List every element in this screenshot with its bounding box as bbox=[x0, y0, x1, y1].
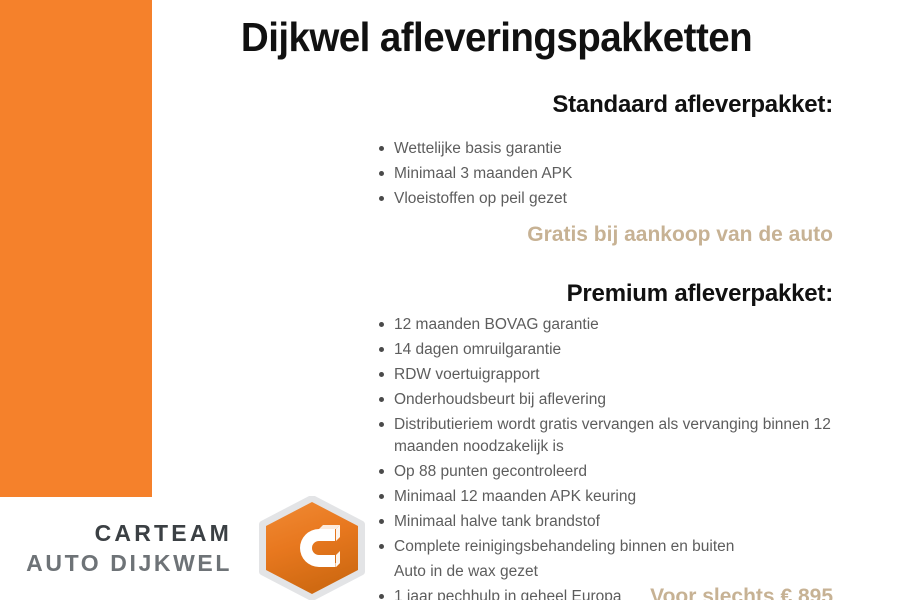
standard-package-list: Wettelijke basis garantie Minimaal 3 maa… bbox=[378, 138, 838, 213]
bullet-icon bbox=[379, 397, 384, 402]
list-item: Wettelijke basis garantie bbox=[378, 138, 838, 160]
list-item: Minimaal 12 maanden APK keuring bbox=[378, 486, 838, 508]
standard-package-price-note: Gratis bij aankoop van de auto bbox=[527, 222, 833, 248]
list-item: Distributieriem wordt gratis vervangen a… bbox=[378, 414, 838, 457]
orange-accent-panel bbox=[0, 0, 152, 497]
list-item-label: 12 maanden BOVAG garantie bbox=[394, 316, 599, 333]
premium-package-price-note: Voor slechts € 895 bbox=[650, 584, 833, 600]
bullet-icon bbox=[379, 347, 384, 352]
list-item-label: Distributieriem wordt gratis vervangen a… bbox=[394, 416, 831, 455]
page-title: Dijkwel afleveringspakketten bbox=[180, 12, 813, 62]
list-item-label: 1 jaar pechhulp in geheel Europa bbox=[394, 588, 622, 600]
bullet-icon bbox=[379, 196, 384, 201]
list-item-label: RDW voertuigrapport bbox=[394, 366, 540, 383]
brand-wordmark: CARTEAM AUTO DIJKWEL bbox=[0, 518, 232, 578]
premium-package-heading: Premium afleverpakket: bbox=[567, 279, 833, 309]
list-item: RDW voertuigrapport bbox=[378, 364, 838, 386]
bullet-icon bbox=[379, 171, 384, 176]
list-item: Minimaal halve tank brandstof bbox=[378, 511, 838, 533]
list-item-label: Minimaal halve tank brandstof bbox=[394, 513, 600, 530]
list-item: Onderhoudsbeurt bij aflevering bbox=[378, 389, 838, 411]
list-item-label: Onderhoudsbeurt bij aflevering bbox=[394, 391, 606, 408]
list-item: Minimaal 3 maanden APK bbox=[378, 163, 838, 185]
standard-package-heading: Standaard afleverpakket: bbox=[552, 90, 833, 120]
bullet-icon bbox=[379, 544, 384, 549]
list-item-label: Op 88 punten gecontroleerd bbox=[394, 463, 587, 480]
list-item-continuation: Auto in de wax gezet bbox=[378, 561, 838, 583]
list-item: 14 dagen omruilgarantie bbox=[378, 339, 838, 361]
bullet-icon bbox=[379, 594, 384, 599]
delivery-packages-poster: Dijkwel afleveringspakketten Standaard a… bbox=[0, 0, 902, 600]
list-item: Complete reinigingsbehandeling binnen en… bbox=[378, 536, 838, 558]
list-item-label: Minimaal 3 maanden APK bbox=[394, 165, 572, 182]
list-item-label: Complete reinigingsbehandeling binnen en… bbox=[394, 538, 734, 555]
list-item-label: Vloeistoffen op peil gezet bbox=[394, 190, 567, 207]
list-item-label: Minimaal 12 maanden APK keuring bbox=[394, 488, 636, 505]
bullet-icon bbox=[379, 146, 384, 151]
brand-name: CARTEAM bbox=[0, 518, 232, 548]
bullet-icon bbox=[379, 372, 384, 377]
list-item: 12 maanden BOVAG garantie bbox=[378, 314, 838, 336]
premium-package-list: 12 maanden BOVAG garantie 14 dagen omrui… bbox=[378, 314, 838, 600]
bullet-icon bbox=[379, 322, 384, 327]
bullet-icon bbox=[379, 519, 384, 524]
list-item: Op 88 punten gecontroleerd bbox=[378, 461, 838, 483]
brand-dealer-name: AUTO DIJKWEL bbox=[0, 548, 232, 578]
bullet-icon bbox=[379, 494, 384, 499]
bullet-icon bbox=[379, 422, 384, 427]
hexagon-c-logo-icon bbox=[254, 496, 370, 600]
list-item-label: Wettelijke basis garantie bbox=[394, 140, 562, 157]
list-item: Vloeistoffen op peil gezet bbox=[378, 188, 838, 210]
list-item-label: 14 dagen omruilgarantie bbox=[394, 341, 561, 358]
bullet-icon bbox=[379, 469, 384, 474]
list-item-label: Auto in de wax gezet bbox=[394, 563, 538, 580]
